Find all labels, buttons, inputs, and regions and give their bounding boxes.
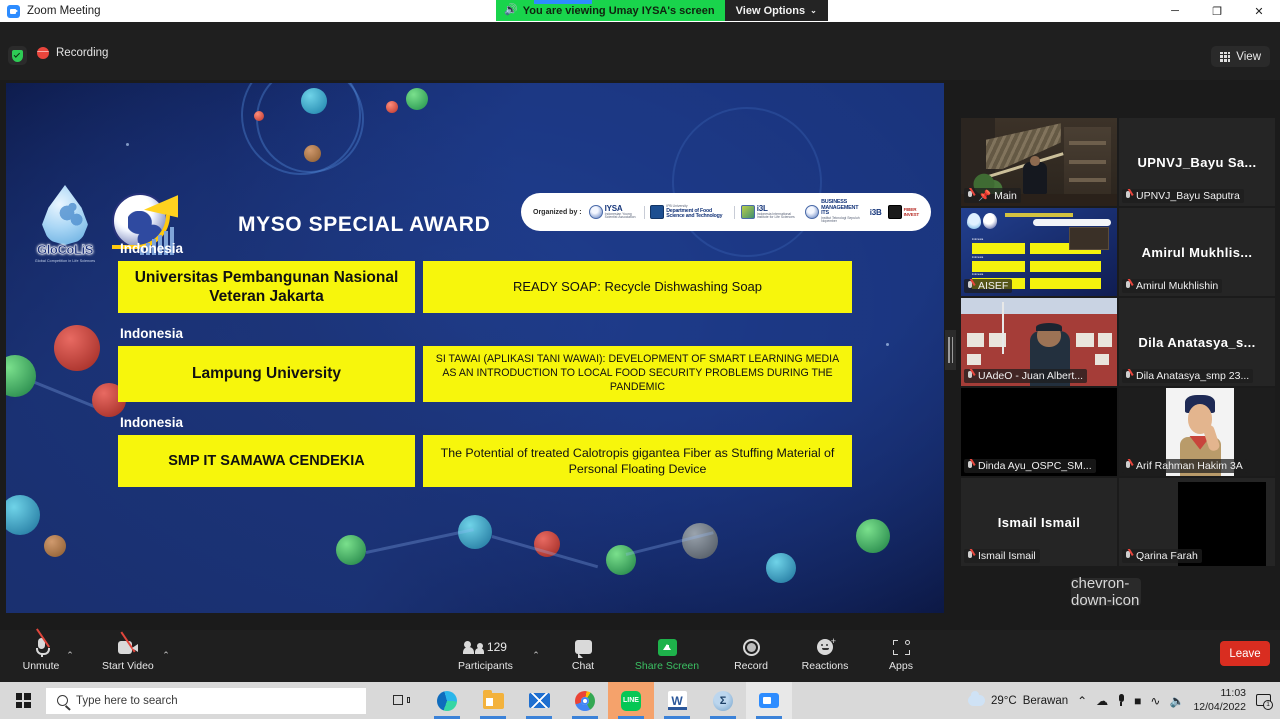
participant-tile-main[interactable]: 📌 Main — [961, 118, 1117, 206]
view-layout-button[interactable]: View — [1211, 46, 1270, 67]
participant-name-badge: UPNVJ_Bayu Saputra — [1122, 189, 1244, 203]
shield-check-icon[interactable] — [8, 46, 27, 65]
reactions-button[interactable]: + Reactions — [796, 636, 854, 678]
microphone-muted-icon — [966, 370, 975, 382]
chat-bubble-icon — [575, 640, 592, 654]
map-motif — [58, 201, 88, 231]
audio-options-caret[interactable]: ⌃ — [62, 636, 78, 678]
page-title: MYSO SPECIAL AWARD — [238, 213, 538, 237]
apps-label: Apps — [889, 661, 913, 672]
task-view-icon[interactable] — [378, 682, 424, 719]
clock-date: 12/04/2022 — [1193, 701, 1246, 714]
leave-label: Leave — [1229, 648, 1260, 660]
weather-widget[interactable]: 29°C Berawan — [968, 695, 1068, 707]
wifi-icon[interactable]: ∿ — [1150, 694, 1160, 708]
mail-icon[interactable] — [516, 682, 562, 719]
molecule-decoration — [6, 355, 36, 397]
taskbar-app-list: LINE W Σ — [378, 682, 792, 719]
zoom-toolbar: Unmute ⌃ Start Video ⌃ 129 Partici — [0, 630, 1280, 682]
award-institution: Lampung University — [118, 346, 415, 402]
participants-count: 129 — [487, 640, 507, 654]
award-project-title: The Potential of treated Calotropis giga… — [423, 435, 852, 487]
organizer-name: BUSINESS MANAGEMENT ITS — [821, 200, 864, 216]
microphone-muted-icon — [1124, 550, 1133, 562]
microphone-icon[interactable] — [1117, 694, 1125, 707]
molecule-decoration — [856, 519, 890, 553]
molecule-decoration — [406, 88, 428, 110]
molecule-decoration — [304, 145, 321, 162]
award-list: Indonesia Universitas Pembangunan Nasion… — [118, 241, 854, 500]
participant-tile-arif-rahman-hakim[interactable]: Arif Rahman Hakim 3A — [1119, 388, 1275, 476]
drop-shape — [42, 185, 88, 245]
molecule-decoration — [766, 553, 796, 583]
chevron-up-icon: ⌃ — [66, 650, 74, 661]
start-video-label: Start Video — [102, 661, 154, 672]
university-seal-icon — [650, 205, 664, 219]
participant-name: Ismail Ismail — [978, 550, 1036, 562]
recording-indicator[interactable]: Recording — [37, 47, 108, 59]
participant-name: Main — [994, 190, 1017, 202]
cloud-icon — [968, 695, 985, 706]
organizer-sub: Indonesian Young Scientist Association — [605, 213, 638, 220]
vertical-drag-handle[interactable] — [945, 330, 956, 370]
notification-count: 1 — [1263, 700, 1273, 710]
organizer-logo-fiber-invest: FIBER INVEST — [888, 205, 919, 219]
award-row: Indonesia Lampung University SI TAWAI (A… — [118, 326, 854, 402]
recording-label: Recording — [56, 47, 108, 59]
search-input[interactable]: Type here to search — [46, 688, 366, 714]
shared-slide[interactable]: GloCoLiS Global Competition in Life Scie… — [6, 83, 944, 613]
participants-filmstrip: 📌 Main UPNVJ_Bayu Sa... UPNVJ_Bayu Saput… — [956, 80, 1280, 630]
windows-taskbar: Type here to search LINE W Σ 29°C Berawa… — [0, 682, 1280, 719]
taskbar-clock[interactable]: 11:03 12/04/2022 — [1193, 687, 1246, 713]
award-project-title: SI TAWAI (APLIKASI TANI WAWAI): DEVELOPM… — [423, 346, 852, 402]
shield-shape — [12, 50, 23, 62]
sigma-icon[interactable]: Σ — [700, 682, 746, 719]
participant-name: Amirul Mukhlishin — [1136, 280, 1218, 292]
share-screen-label: Share Screen — [635, 661, 699, 672]
fiber-invest-icon — [888, 205, 902, 219]
participant-name: Arif Rahman Hakim 3A — [1136, 460, 1243, 472]
system-tray: 29°C Berawan ⌃ ☁ ■ ∿ 🔈 11:03 12/04/2022 … — [968, 687, 1280, 713]
participant-tile-amirul-mukhlishin[interactable]: Amirul Mukhlis... Amirul Mukhlishin — [1119, 208, 1275, 296]
folder-icon[interactable] — [470, 682, 516, 719]
award-country: Indonesia — [120, 326, 854, 341]
participant-name-badge: Amirul Mukhlishin — [1122, 279, 1222, 293]
microphone-muted-icon — [966, 460, 975, 472]
tray-overflow-caret[interactable]: ⌃ — [1077, 694, 1087, 708]
participant-name: Dinda Ayu_OSPC_SM... — [978, 460, 1092, 472]
participant-tile-uadeo-juan-albert[interactable]: UAdeO - Juan Albert... — [961, 298, 1117, 386]
divider — [734, 206, 735, 219]
view-button-label: View — [1236, 51, 1261, 63]
logo-wordmark: GloCoLiS — [34, 242, 96, 257]
molecule-decoration — [44, 535, 66, 557]
participants-options-caret[interactable]: ⌃ — [528, 636, 544, 678]
award-institution: Universitas Pembangunan Nasional Veteran… — [118, 261, 415, 313]
grid-icon — [1220, 52, 1230, 62]
close-button[interactable]: ✕ — [1238, 0, 1280, 22]
viewing-screen-message: You are viewing Umay IYSA's screen — [523, 5, 715, 17]
its-seal-icon — [805, 205, 819, 219]
award-country: Indonesia — [120, 415, 854, 430]
molecule-decoration — [254, 111, 264, 121]
organizer-banner: Organized by : IYSA Indonesian Young Sci… — [521, 193, 931, 231]
participant-name-badge: Arif Rahman Hakim 3A — [1122, 459, 1247, 473]
organizer-logo-iysa: IYSA Indonesian Young Scientist Associat… — [589, 205, 638, 220]
viewing-screen-banner: 🔊 You are viewing Umay IYSA's screen Vie… — [496, 0, 828, 21]
participant-name-badge: UAdeO - Juan Albert... — [964, 369, 1087, 383]
weather-temperature: 29°C — [991, 695, 1017, 707]
zoom-header-bar: Recording View — [0, 22, 1280, 80]
word-icon[interactable]: W — [654, 682, 700, 719]
windows-start-icon[interactable] — [0, 682, 46, 719]
participant-name: Dila Anatasya_smp 23... — [1136, 370, 1249, 382]
screen-share-tab-indicator — [534, 0, 592, 4]
chevron-up-icon: ⌃ — [162, 650, 170, 661]
smiley-plus-icon: + — [817, 639, 833, 655]
award-country: Indonesia — [120, 241, 854, 256]
chevron-down-icon: ⌄ — [810, 6, 817, 15]
microphone-muted-icon — [1124, 370, 1133, 382]
participant-name: AISEF — [978, 280, 1008, 292]
participants-button[interactable]: 129 Participants — [458, 636, 513, 678]
record-dot-icon — [37, 47, 49, 59]
view-options-button[interactable]: View Options ⌄ — [725, 0, 828, 21]
logo-tagline: Global Competition in Life Sciences — [34, 259, 96, 263]
start-video-button[interactable]: Start Video — [102, 636, 154, 678]
microphone-muted-icon — [1124, 460, 1133, 472]
microphone-muted-icon — [35, 636, 48, 658]
molecule-decoration — [682, 523, 718, 559]
view-options-label: View Options — [736, 5, 805, 17]
participant-name-badge: AISEF — [964, 279, 1012, 293]
leave-button[interactable]: Leave — [1220, 641, 1270, 666]
molecule-decoration — [6, 495, 40, 535]
window-controls: ─ ❐ ✕ — [1154, 0, 1280, 22]
microphone-muted-icon — [966, 280, 975, 292]
volume-icon[interactable]: 🔈 — [1169, 694, 1184, 708]
participant-tile-aisef[interactable]: Indonesia Indonesia Indonesia AISEF — [961, 208, 1117, 296]
people-icon — [464, 641, 483, 654]
chat-label: Chat — [572, 661, 594, 672]
participant-name-badge: Ismail Ismail — [964, 549, 1040, 563]
organizer-logo-i3b: i3B — [870, 208, 882, 217]
battery-icon[interactable]: ■ — [1134, 694, 1141, 708]
participant-tile-dila-anatasya[interactable]: Dila Anatasya_s... Dila Anatasya_smp 23.… — [1119, 298, 1275, 386]
share-screen-button[interactable]: Share Screen — [630, 636, 704, 678]
participant-name-badge: Dila Anatasya_smp 23... — [1122, 369, 1253, 383]
window-title: Zoom Meeting — [27, 5, 101, 17]
apps-bracket-icon — [893, 640, 910, 655]
speaker-icon: 🔊 — [504, 5, 518, 16]
organizer-sub: Indonesia International Institute for Li… — [757, 213, 799, 220]
pin-icon: 📌 — [978, 189, 991, 202]
bond-decoration — [366, 528, 474, 554]
unmute-button[interactable]: Unmute — [18, 636, 64, 678]
participant-name-badge: Qarina Farah — [1122, 549, 1202, 563]
weather-condition: Berawan — [1023, 695, 1068, 707]
participant-tile-dinda-ayu[interactable]: Dinda Ayu_OSPC_SM... — [961, 388, 1117, 476]
award-row: Indonesia SMP IT SAMAWA CENDEKIA The Pot… — [118, 415, 854, 487]
participant-tile-qarina-farah[interactable]: Qarina Farah — [1119, 478, 1275, 566]
camera-off-icon — [118, 636, 138, 658]
participant-tile-grid: 📌 Main UPNVJ_Bayu Sa... UPNVJ_Bayu Saput… — [961, 118, 1277, 566]
chrome-icon[interactable] — [562, 682, 608, 719]
onedrive-icon[interactable]: ☁ — [1096, 694, 1108, 708]
chevron-up-icon: ⌃ — [532, 650, 540, 661]
record-label: Record — [734, 661, 768, 672]
participant-name-badge: 📌 Main — [964, 188, 1021, 203]
search-icon — [57, 695, 68, 706]
participant-tile-ismail-ismail[interactable]: Ismail Ismail Ismail Ismail — [961, 478, 1117, 566]
unmute-label: Unmute — [23, 661, 60, 672]
organizer-logo-ipb: IPB University Department of Food Scienc… — [650, 205, 728, 219]
molecule-decoration — [606, 545, 636, 575]
water-drop-logo: GloCoLiS Global Competition in Life Scie… — [34, 185, 96, 263]
molecule-decoration — [301, 88, 327, 114]
divider — [644, 206, 645, 219]
participant-name-badge: Dinda Ayu_OSPC_SM... — [964, 459, 1096, 473]
organized-by-label: Organized by : — [533, 209, 582, 216]
microphone-muted-icon — [1124, 190, 1133, 202]
organizer-name: i3B — [870, 208, 882, 217]
record-circle-icon — [743, 639, 760, 656]
participant-name: UPNVJ_Bayu Saputra — [1136, 190, 1240, 202]
participant-name: UAdeO - Juan Albert... — [978, 370, 1083, 382]
organizer-logo-i3l: i3L Indonesia International Institute fo… — [741, 205, 799, 220]
line-icon[interactable]: LINE — [608, 682, 654, 719]
scroll-down-button[interactable]: chevron-down-icon — [1071, 578, 1141, 606]
apps-button[interactable]: Apps — [878, 636, 924, 678]
participant-tile-upnvj-bayu-saputra[interactable]: UPNVJ_Bayu Sa... UPNVJ_Bayu Saputra — [1119, 118, 1275, 206]
molecule-decoration — [336, 535, 366, 565]
organizer-name: Department of Food Science and Technolog… — [666, 209, 728, 219]
award-project-title: READY SOAP: Recycle Dishwashing Soap — [423, 261, 852, 313]
award-row: Indonesia Universitas Pembangunan Nasion… — [118, 241, 854, 313]
dna-icon — [741, 205, 755, 219]
atom-icon — [589, 205, 603, 219]
zoom-camera-icon — [7, 5, 20, 18]
reactions-label: Reactions — [802, 661, 849, 672]
chat-button[interactable]: Chat — [560, 636, 606, 678]
share-screen-icon — [658, 639, 677, 656]
record-button[interactable]: Record — [728, 636, 774, 678]
edge-icon[interactable] — [424, 682, 470, 719]
organizer-logo-its: BUSINESS MANAGEMENT ITS Institut Teknolo… — [805, 200, 864, 223]
microphone-muted-icon — [966, 190, 975, 202]
viewing-screen-message-area: 🔊 You are viewing Umay IYSA's screen — [496, 0, 725, 21]
clock-time: 11:03 — [1221, 687, 1247, 700]
zoom-icon[interactable] — [746, 682, 792, 719]
notification-icon[interactable]: 1 — [1255, 693, 1272, 709]
video-options-caret[interactable]: ⌃ — [158, 636, 174, 678]
molecule-decoration — [386, 101, 398, 113]
zoom-meeting-window: Zoom Meeting ─ ❐ ✕ 🔊 You are viewing Uma… — [0, 0, 1280, 719]
participants-label: Participants — [458, 661, 513, 672]
microphone-muted-icon — [966, 550, 975, 562]
award-institution: SMP IT SAMAWA CENDEKIA — [118, 435, 415, 487]
minimize-button[interactable]: ─ — [1154, 0, 1196, 22]
organizer-name: FIBER INVEST — [904, 207, 919, 217]
molecule-decoration — [54, 325, 100, 371]
participant-name: Qarina Farah — [1136, 550, 1198, 562]
organizer-logo-list: IYSA Indonesian Young Scientist Associat… — [589, 200, 919, 223]
microphone-muted-icon — [1124, 280, 1133, 292]
maximize-button[interactable]: ❐ — [1196, 0, 1238, 22]
search-placeholder: Type here to search — [76, 695, 178, 707]
chevron-down-icon: chevron-down-icon — [1071, 575, 1141, 609]
bond-decoration — [29, 379, 97, 409]
organizer-sub: Institut Teknologi Sepuluh Nopember — [821, 217, 864, 224]
